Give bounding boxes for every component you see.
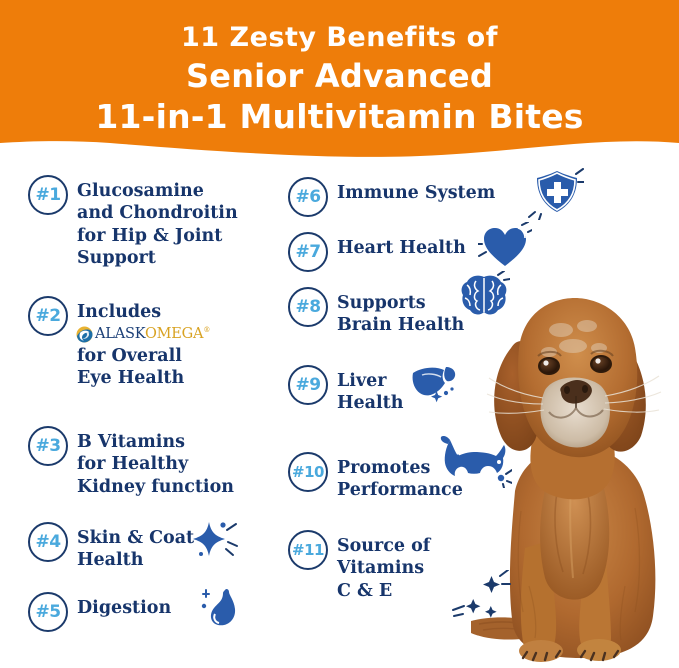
header-text-block: 11 Zesty Benefits of Senior Advanced 11-…	[0, 0, 679, 136]
benefit-item-2[interactable]: #2 Includes ALASKOMEGA® for Over	[28, 296, 210, 390]
heart-icon	[478, 222, 532, 270]
benefit-text-8: Supports Brain Health	[337, 287, 464, 337]
benefit-text-6: Immune System	[337, 177, 495, 204]
benefit-7-line-1: Heart Health	[337, 237, 466, 259]
benefit-badge-3: #3	[28, 426, 68, 466]
benefit-8-line-1: Supports	[337, 292, 464, 314]
benefit-1-line-4: Support	[77, 247, 238, 269]
benefit-9-line-1: Liver	[337, 370, 403, 392]
benefit-number-11: #11	[292, 541, 324, 559]
benefit-badge-8: #8	[288, 287, 328, 327]
shield-plus-icon	[528, 168, 584, 220]
benefit-2-line-1: Includes	[77, 301, 210, 323]
sparkles-icon	[447, 570, 525, 626]
benefit-number-3: #3	[35, 436, 60, 456]
benefit-9-line-2: Health	[337, 392, 403, 414]
benefit-number-7: #7	[295, 242, 320, 262]
benefit-item-6[interactable]: #6 Immune System	[288, 177, 495, 217]
benefit-text-11: Source of Vitamins C & E	[337, 530, 430, 602]
benefit-1-line-3: for Hip & Joint	[77, 225, 238, 247]
benefit-3-line-3: Kidney function	[77, 476, 234, 498]
alaskomega-word-omega: OMEGA	[145, 326, 203, 342]
benefit-6-line-1: Immune System	[337, 182, 495, 204]
benefit-text-1: Glucosamine and Chondroitin for Hip & Jo…	[77, 175, 238, 270]
benefit-number-2: #2	[35, 306, 60, 326]
benefit-item-7[interactable]: #7 Heart Health	[288, 232, 466, 272]
benefit-item-11[interactable]: #11 Source of Vitamins C & E	[288, 530, 430, 602]
benefit-number-10: #10	[292, 463, 324, 481]
benefit-11-line-1: Source of	[337, 535, 430, 557]
benefit-1-line-2: and Chondroitin	[77, 202, 238, 224]
benefit-11-line-3: C & E	[337, 580, 430, 602]
benefit-item-1[interactable]: #1 Glucosamine and Chondroitin for Hip &…	[28, 175, 238, 270]
benefit-number-5: #5	[35, 602, 60, 622]
benefit-badge-2: #2	[28, 296, 68, 336]
alaskomega-logo: ALASKOMEGA®	[76, 325, 210, 344]
alaskomega-word-alask: ALASK	[95, 326, 145, 342]
alaskomega-wordmark: ALASKOMEGA®	[95, 325, 210, 344]
benefit-4-line-1: Skin & Coat	[77, 527, 194, 549]
benefit-4-line-2: Health	[77, 549, 194, 571]
liver-icon	[408, 363, 460, 409]
benefit-text-4: Skin & Coat Health	[77, 522, 194, 572]
header-line-2: Senior Advanced	[0, 57, 679, 95]
benefit-11-line-2: Vitamins	[337, 557, 430, 579]
benefit-1-line-1: Glucosamine	[77, 180, 238, 202]
benefit-badge-1: #1	[28, 175, 68, 215]
benefit-text-9: Liver Health	[337, 365, 403, 415]
benefit-text-7: Heart Health	[337, 232, 466, 259]
benefit-text-5: Digestion	[77, 592, 171, 619]
stomach-icon	[196, 583, 244, 631]
benefit-badge-6: #6	[288, 177, 328, 217]
benefit-text-3: B Vitamins for Healthy Kidney function	[77, 426, 234, 498]
benefit-item-5[interactable]: #5 Digestion	[28, 592, 171, 632]
benefit-number-4: #4	[35, 532, 60, 552]
alaskomega-swirl-icon	[76, 326, 93, 343]
benefit-number-8: #8	[295, 297, 320, 317]
benefit-number-1: #1	[35, 185, 60, 205]
benefit-badge-5: #5	[28, 592, 68, 632]
alaskomega-registered-mark: ®	[203, 327, 210, 335]
infographic-root: 11 Zesty Benefits of Senior Advanced 11-…	[0, 0, 679, 668]
benefit-5-line-1: Digestion	[77, 597, 171, 619]
benefit-badge-11: #11	[288, 530, 328, 570]
benefit-item-3[interactable]: #3 B Vitamins for Healthy Kidney functio…	[28, 426, 234, 498]
benefit-2-line-3: Eye Health	[77, 367, 210, 389]
benefit-badge-4: #4	[28, 522, 68, 562]
benefit-number-6: #6	[295, 187, 320, 207]
benefit-item-8[interactable]: #8 Supports Brain Health	[288, 287, 464, 337]
benefit-2-line-2: for Overall	[77, 345, 210, 367]
benefit-item-10[interactable]: #10 Promotes Performance	[288, 452, 463, 502]
header-line-3: 11-in-1 Multivitamin Bites	[0, 97, 679, 136]
benefit-item-9[interactable]: #9 Liver Health	[288, 365, 403, 415]
header-line-1: 11 Zesty Benefits of	[0, 22, 679, 53]
benefit-3-line-1: B Vitamins	[77, 431, 234, 453]
benefit-item-4[interactable]: #4 Skin & Coat Health	[28, 522, 194, 572]
benefit-number-9: #9	[295, 375, 320, 395]
running-dog-icon	[440, 434, 512, 488]
benefit-8-line-2: Brain Health	[337, 314, 464, 336]
benefit-3-line-2: for Healthy	[77, 453, 234, 475]
benefit-badge-7: #7	[288, 232, 328, 272]
header-banner: 11 Zesty Benefits of Senior Advanced 11-…	[0, 0, 679, 165]
brain-icon	[458, 271, 510, 321]
benefit-text-2: Includes ALASKOMEGA® for Overall Eye Hea…	[77, 296, 210, 390]
benefit-badge-10: #10	[288, 452, 328, 492]
sparkle-star-icon	[187, 518, 239, 562]
benefit-badge-9: #9	[288, 365, 328, 405]
